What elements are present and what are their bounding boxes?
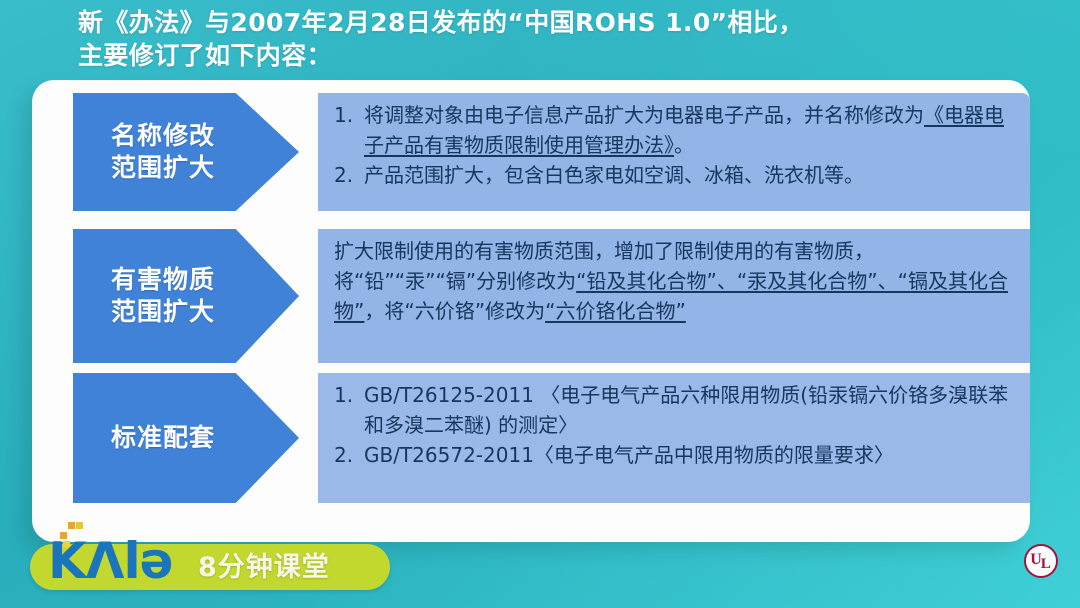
list-item-number: 1. [334, 100, 362, 130]
row-label-line-1: 有害物质 [111, 264, 215, 296]
content-row: 名称修改 范围扩大 1. 将调整对象由电子信息产品扩大为电器电子产品，并名称修改… [32, 93, 1030, 211]
ordered-list: 1. 将调整对象由电子信息产品扩大为电器电子产品，并名称修改为《电器电子产品有害… [334, 100, 1016, 190]
header-line-2: 主要修订了如下内容： [78, 39, 1038, 72]
row-label-arrow[interactable]: 名称修改 范围扩大 [73, 93, 299, 211]
paragraph: 扩大限制使用的有害物质范围，增加了限制使用的有害物质，将“铅”“汞”“镉”分别修… [334, 236, 1016, 326]
row-content-panel: 1. 将调整对象由电子信息产品扩大为电器电子产品，并名称修改为《电器电子产品有害… [318, 93, 1030, 211]
row-label-arrow[interactable]: 标准配套 [73, 373, 299, 503]
list-item-text: 将调整对象由电子信息产品扩大为电器电子产品，并名称修改为 [364, 103, 924, 127]
ul-certification-icon: UL [1024, 544, 1058, 578]
paragraph-part-b: ，将“六价铬”修改为 [364, 299, 545, 323]
content-card-inner: 名称修改 范围扩大 1. 将调整对象由电子信息产品扩大为电器电子产品，并名称修改… [32, 80, 1030, 542]
brand-tagline: 8分钟课堂 [198, 545, 330, 584]
list-item-text: 产品范围扩大，包含白色家电如空调、冰箱、洗衣机等。 [364, 163, 864, 187]
list-item-text: GB/T26572-2011〈电子电气产品中限用物质的限量要求〉 [364, 443, 894, 467]
paragraph-underlined-2: “六价铬化合物” [545, 299, 686, 323]
list-item-number: 1. [334, 380, 362, 410]
list-item: 1. 将调整对象由电子信息产品扩大为电器电子产品，并名称修改为《电器电子产品有害… [334, 100, 1016, 160]
row-label-line-1: 标准配套 [111, 422, 215, 454]
list-item: 2. GB/T26572-2011〈电子电气产品中限用物质的限量要求〉 [334, 440, 1016, 470]
slide-header: 新《办法》与2007年2月28日发布的“中国ROHS 1.0”相比， 主要修订了… [78, 6, 1038, 72]
row-label-arrow[interactable]: 有害物质 范围扩大 [73, 229, 299, 363]
ul-letter-l: L [1041, 556, 1051, 573]
content-card: 名称修改 范围扩大 1. 将调整对象由电子信息产品扩大为电器电子产品，并名称修改… [32, 80, 1030, 542]
logo-wordmark: KΛlə [48, 536, 173, 586]
list-item-text: GB/T26125-2011 〈电子电气产品六种限用物质(铅汞镉六价铬多溴联苯和… [364, 383, 1008, 437]
list-item-number: 2. [334, 160, 362, 190]
row-content-panel: 1. GB/T26125-2011 〈电子电气产品六种限用物质(铅汞镉六价铬多溴… [318, 373, 1030, 503]
content-row: 有害物质 范围扩大 扩大限制使用的有害物质范围，增加了限制使用的有害物质，将“铅… [32, 229, 1030, 363]
row-label-line-1: 名称修改 [111, 120, 215, 152]
list-item: 1. GB/T26125-2011 〈电子电气产品六种限用物质(铅汞镉六价铬多溴… [334, 380, 1016, 440]
list-item-text-tail: 。 [674, 133, 694, 157]
header-line-1: 新《办法》与2007年2月28日发布的“中国ROHS 1.0”相比， [78, 8, 804, 37]
content-row: 标准配套 1. GB/T26125-2011 〈电子电气产品六种限用物质(铅汞镉… [32, 373, 1030, 503]
list-item: 2. 产品范围扩大，包含白色家电如空调、冰箱、洗衣机等。 [334, 160, 1016, 190]
list-item-number: 2. [334, 440, 362, 470]
row-content-panel: 扩大限制使用的有害物质范围，增加了限制使用的有害物质，将“铅”“汞”“镉”分别修… [318, 229, 1030, 363]
ordered-list: 1. GB/T26125-2011 〈电子电气产品六种限用物质(铅汞镉六价铬多溴… [334, 380, 1016, 470]
row-label-line-2: 范围扩大 [111, 296, 215, 328]
row-label-line-2: 范围扩大 [111, 152, 215, 184]
